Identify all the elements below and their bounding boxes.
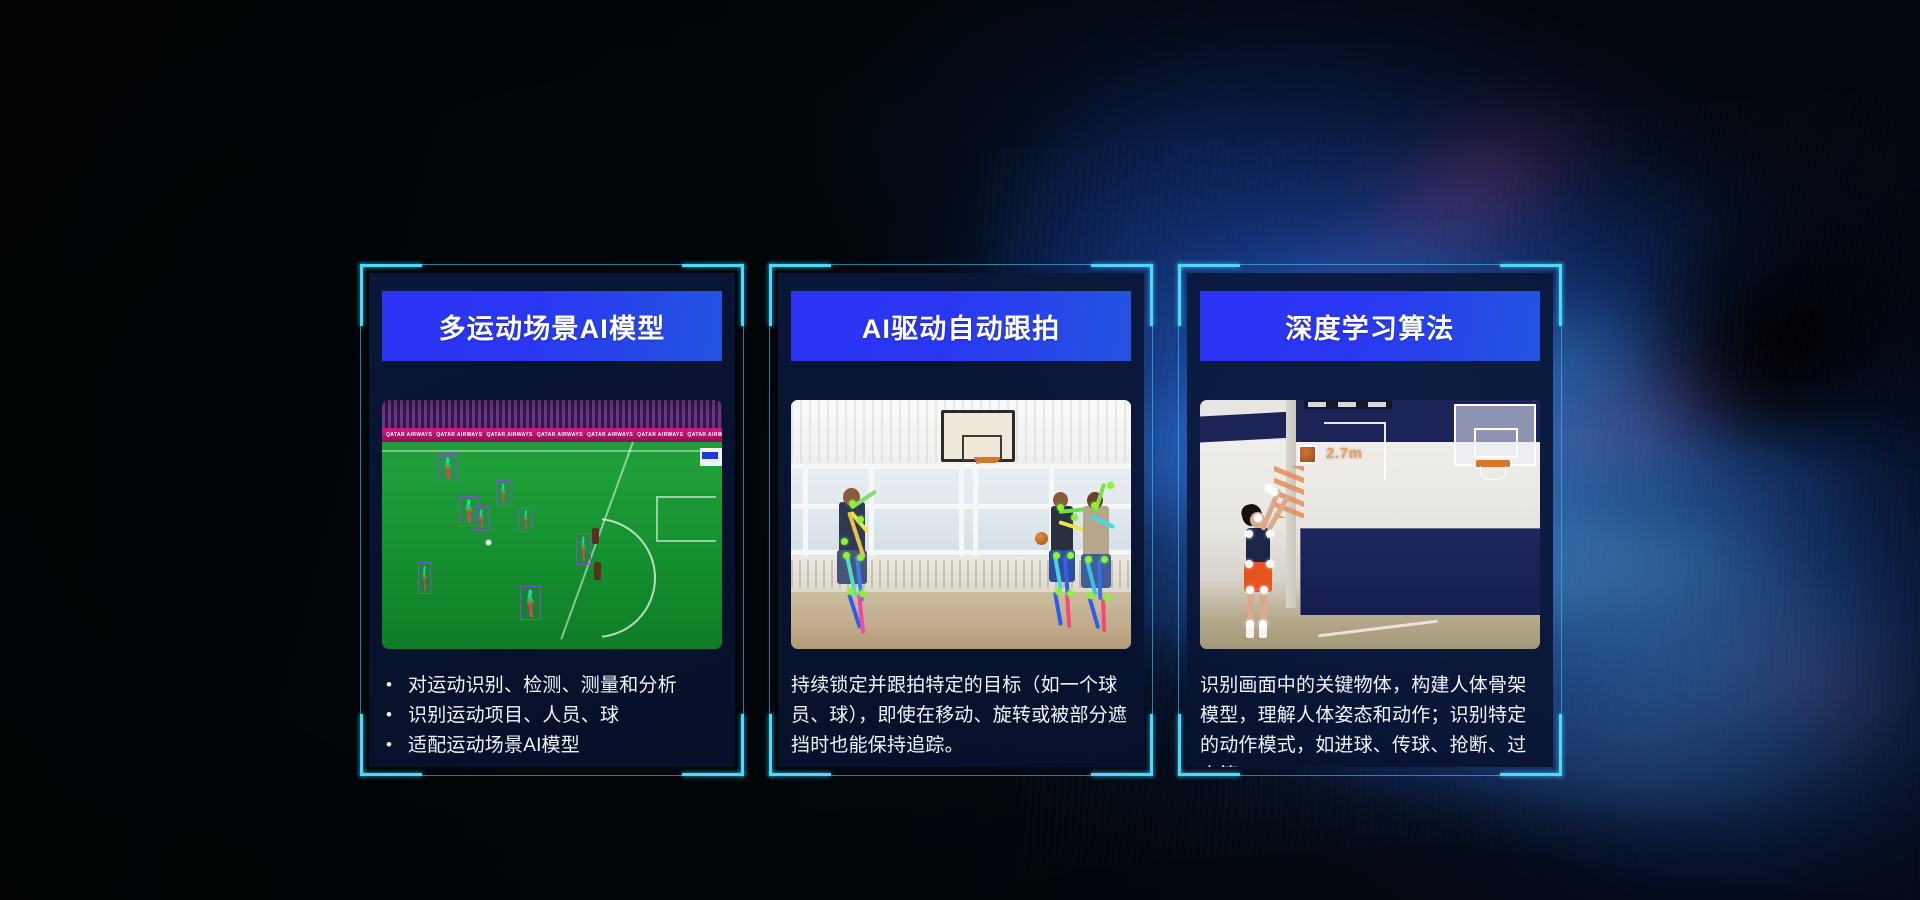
wall-padding-upper-left	[1200, 412, 1294, 443]
card-title-text: 深度学习算法	[1285, 307, 1454, 346]
card-panel: 多运动场景AI模型 QATAR AIRWAYS QATAR AIRWAYS QA…	[369, 273, 735, 767]
basketball-backboard	[941, 410, 1015, 462]
feature-card-ai-auto-tracking-shot[interactable]: AI驱动自动跟拍	[769, 264, 1153, 776]
frame-edge-bottom	[1178, 775, 1562, 776]
distance-label: 2.7m	[1326, 445, 1363, 462]
window-mullion	[803, 464, 808, 556]
advertising-banner-text: QATAR AIRWAYS	[482, 432, 532, 439]
advertising-banner-text: QATAR AIRWAYS	[533, 432, 583, 439]
advertising-banner-text: QATAR AIRWAYS	[382, 432, 432, 439]
pitch-line-horizontal	[382, 450, 722, 452]
detection-box	[496, 480, 511, 506]
detection-box	[438, 454, 458, 482]
advertising-banner-text: QATAR AIRWAYS	[432, 432, 482, 439]
window-mullion	[959, 464, 964, 556]
detection-box	[474, 506, 489, 531]
gym-scene	[791, 400, 1131, 649]
feature-card-row: 多运动场景AI模型 QATAR AIRWAYS QATAR AIRWAYS QA…	[0, 0, 1920, 900]
advertising-banner-text: QATAR AIRWAYS	[633, 432, 683, 439]
card-title-banner: 多运动场景AI模型	[382, 291, 722, 361]
frame-edge-right	[743, 264, 744, 776]
ball-detection-box	[1298, 445, 1317, 464]
card-body: 持续锁定并跟拍特定的目标（如一个球员、球），即使在移动、旋转或被部分遮挡时也能保…	[791, 671, 1135, 761]
frame-edge-right	[1152, 264, 1153, 776]
undetected-player	[594, 562, 601, 580]
bullet-item: 适配运动场景AI模型	[382, 731, 726, 761]
card-title-banner: AI驱动自动跟拍	[791, 291, 1131, 361]
feature-paragraph: 识别画面中的关键物体，构建人体骨架模型，理解人体姿态和动作；识别特定的动作模式，…	[1200, 671, 1544, 767]
detection-box	[576, 533, 591, 565]
card-title-banner: 深度学习算法	[1200, 291, 1540, 361]
card-body: 识别画面中的关键物体，构建人体骨架模型，理解人体姿态和动作；识别特定的动作模式，…	[1200, 671, 1544, 767]
card-title-text: AI驱动自动跟拍	[862, 307, 1061, 346]
feature-card-deep-learning-algorithm[interactable]: 深度学习算法	[1178, 264, 1562, 776]
basketball	[1035, 532, 1048, 545]
detection-box	[418, 562, 431, 594]
advertising-banner-text: QATAR AIRWAYS	[683, 432, 722, 439]
advertising-banner-text: QATAR AIRWAYS	[583, 432, 633, 439]
basketball-backboard	[1454, 404, 1536, 466]
frame-edge-top	[769, 264, 1153, 265]
tracked-player-skeleton	[1069, 480, 1123, 645]
feature-bullet-list: 对运动识别、检测、测量和分析 识别运动项目、人员、球 适配运动场景AI模型	[382, 671, 726, 761]
soccer-ball	[486, 540, 491, 545]
tracked-shooter-skeleton	[1236, 500, 1286, 640]
detection-box	[519, 507, 533, 532]
frame-edge-left	[1178, 264, 1179, 776]
basketball-net	[1480, 466, 1506, 480]
undetected-player	[592, 528, 599, 544]
card-title-text: 多运动场景AI模型	[439, 307, 666, 346]
tracking-guide-line-vertical	[1384, 422, 1386, 480]
court-scene: 2.7m	[1200, 400, 1540, 649]
card-thumbnail-soccer-pitch-detection: QATAR AIRWAYS QATAR AIRWAYS QATAR AIRWAY…	[382, 400, 722, 649]
card-body: 对运动识别、检测、测量和分析 识别运动项目、人员、球 适配运动场景AI模型	[382, 671, 726, 761]
tracking-guide-line-horizontal	[1324, 422, 1386, 424]
pitch-penalty-box	[656, 496, 716, 542]
window-mullion	[973, 464, 978, 556]
frame-edge-bottom	[360, 775, 744, 776]
frame-edge-right	[1561, 264, 1562, 776]
tracked-player-skeleton	[827, 488, 887, 648]
frame-edge-top	[1178, 264, 1562, 265]
card-thumbnail-shot-trajectory-tracking: 2.7m	[1200, 400, 1540, 649]
detection-box	[520, 586, 541, 620]
card-panel: AI驱动自动跟拍	[778, 273, 1144, 767]
feature-card-multi-sport-ai-model[interactable]: 多运动场景AI模型 QATAR AIRWAYS QATAR AIRWAYS QA…	[360, 264, 744, 776]
frame-edge-left	[769, 264, 770, 776]
soccer-pitch-scene: QATAR AIRWAYS QATAR AIRWAYS QATAR AIRWAY…	[382, 400, 722, 649]
advertising-banner: QATAR AIRWAYS QATAR AIRWAYS QATAR AIRWAY…	[382, 428, 722, 442]
frame-edge-top	[360, 264, 744, 265]
card-thumbnail-gym-basketball-pose	[791, 400, 1131, 649]
stadium-crowd	[382, 400, 722, 430]
wall-padding-lower	[1300, 528, 1540, 624]
feature-paragraph: 持续锁定并跟拍特定的目标（如一个球员、球），即使在移动、旋转或被部分遮挡时也能保…	[791, 671, 1135, 761]
scoreboard	[1304, 400, 1392, 409]
bullet-item: 对运动识别、检测、测量和分析	[382, 671, 726, 701]
bullet-item: 识别运动项目、人员、球	[382, 701, 726, 731]
frame-edge-bottom	[769, 775, 1153, 776]
card-panel: 深度学习算法	[1187, 273, 1553, 767]
frame-edge-left	[360, 264, 361, 776]
